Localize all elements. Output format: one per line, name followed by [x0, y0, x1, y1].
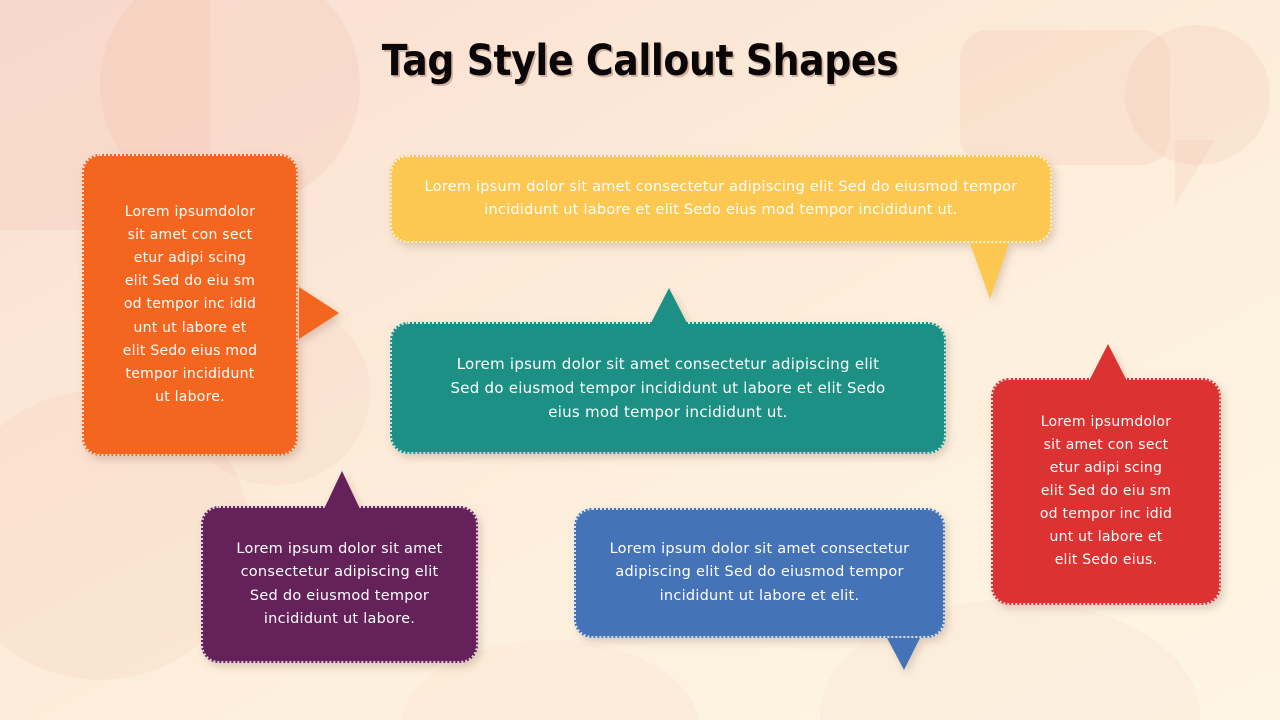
- callout-orange-text: Lorem ipsumdolor sit amet con sect etur …: [113, 201, 267, 409]
- callout-blue-tail-down-icon: [887, 638, 920, 670]
- page-title: Tag Style Callout Shapes: [77, 36, 1203, 86]
- callout-blue[interactable]: Lorem ipsum dolor sit amet consectetur a…: [574, 508, 945, 638]
- callout-orange-tail-right-icon: [299, 287, 339, 339]
- callout-purple-text: Lorem ipsum dolor sit amet consectetur a…: [203, 538, 476, 632]
- callout-red-text: Lorem ipsumdolor sit amet con sect etur …: [1028, 411, 1184, 573]
- callout-purple-tail-up-icon: [324, 471, 360, 509]
- callout-purple[interactable]: Lorem ipsum dolor sit amet consectetur a…: [201, 506, 478, 663]
- callout-orange[interactable]: Lorem ipsumdolor sit amet con sect etur …: [82, 154, 298, 456]
- callout-blue-text: Lorem ipsum dolor sit amet consectetur a…: [576, 538, 943, 608]
- callout-teal-text: Lorem ipsum dolor sit amet consectetur a…: [392, 352, 944, 425]
- callout-red[interactable]: Lorem ipsumdolor sit amet con sect etur …: [991, 378, 1221, 605]
- callout-yellow[interactable]: Lorem ipsum dolor sit amet consectetur a…: [390, 155, 1052, 243]
- callout-yellow-tail-down-icon: [970, 243, 1009, 299]
- callout-red-tail-up-icon: [1089, 344, 1127, 381]
- decor-bubble-tail-2: [1175, 140, 1215, 205]
- callout-teal[interactable]: Lorem ipsum dolor sit amet consectetur a…: [390, 322, 946, 454]
- slide-canvas: Tag Style Callout Shapes Lorem ipsumdolo…: [0, 0, 1280, 720]
- callout-teal-tail-up-icon: [650, 288, 688, 325]
- callout-yellow-text: Lorem ipsum dolor sit amet consectetur a…: [392, 176, 1050, 223]
